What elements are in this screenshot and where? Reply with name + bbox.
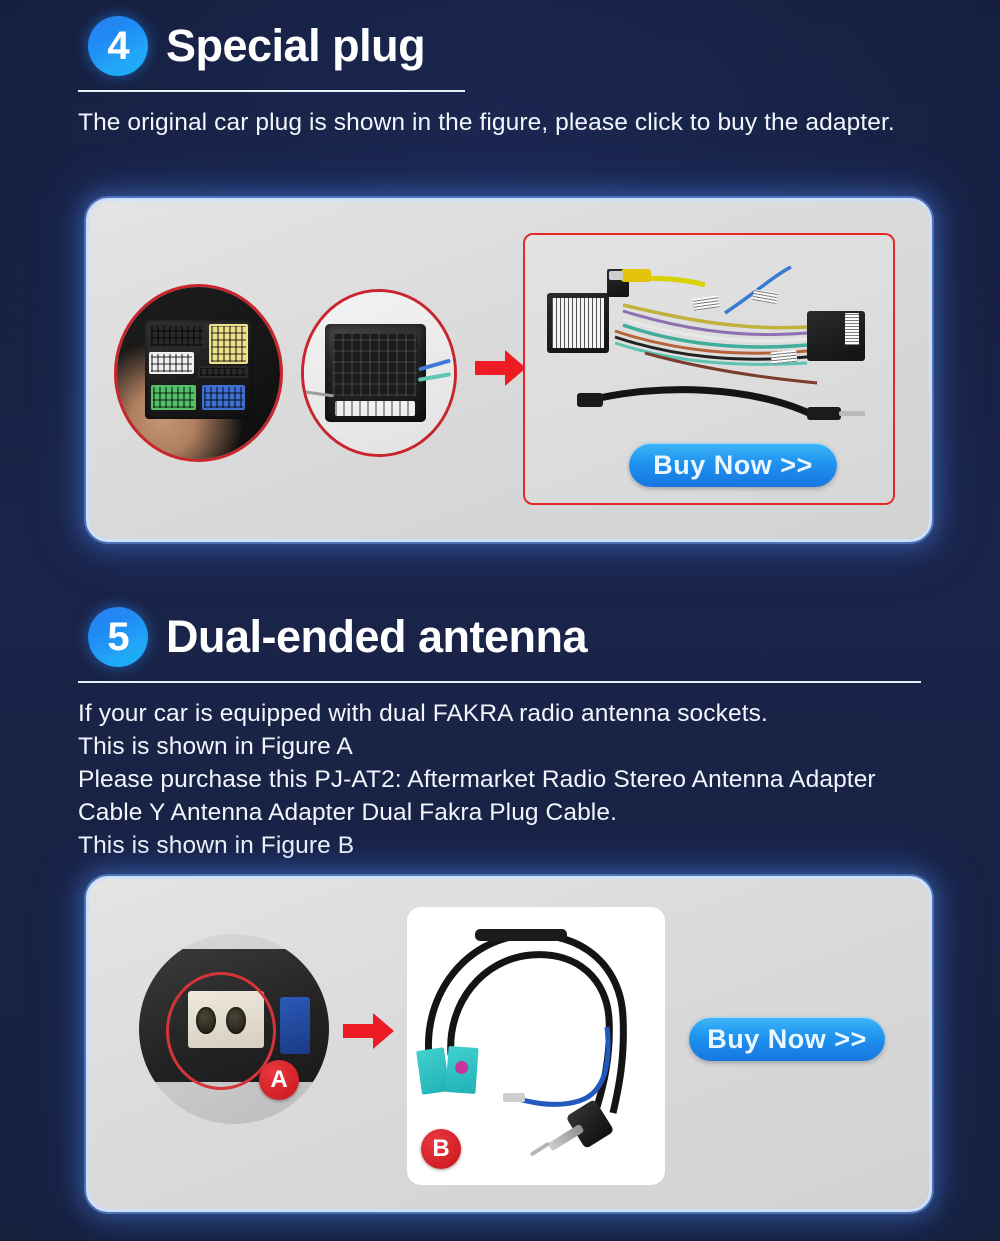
section-4-header: 4 Special plug — [0, 16, 1000, 76]
plug-white-strip — [335, 401, 415, 416]
step-number-badge-4: 4 — [88, 16, 148, 76]
figure-b-product-card: B — [407, 907, 665, 1185]
section-5-divider — [78, 681, 921, 683]
green-pin-block — [151, 385, 196, 411]
plug-pin-grid — [333, 334, 417, 396]
white-pin-block — [149, 352, 194, 374]
arrow-right-icon — [343, 1012, 395, 1050]
wire-label-tag — [845, 313, 859, 345]
figure-a-socket-photo: A — [139, 934, 329, 1124]
buy-now-label: Buy Now >> — [653, 450, 813, 481]
dual-antenna-figure-panel: A — [86, 876, 932, 1212]
special-plug-figure-panel: Buy Now >> — [86, 198, 932, 542]
section-5-title: Dual-ended antenna — [166, 611, 587, 663]
flow-arrow-icon — [475, 349, 527, 387]
buy-now-label: Buy Now >> — [707, 1024, 867, 1055]
connector-body — [145, 320, 253, 420]
arrow-right-icon — [475, 349, 527, 387]
figure-a-badge: A — [259, 1060, 299, 1100]
plug-shell — [325, 324, 426, 421]
hand-holding-connector-image — [117, 287, 280, 459]
adapter-product-frame: Buy Now >> — [523, 233, 895, 505]
figure-b-badge: B — [421, 1129, 461, 1169]
step-number-badge-5: 5 — [88, 607, 148, 667]
buy-now-button-special-plug[interactable]: Buy Now >> — [629, 443, 837, 487]
original-car-plug-photo — [114, 284, 283, 462]
figure-b-label: B — [432, 1135, 449, 1163]
product-detail-page: 4 Special plug The original car plug is … — [0, 0, 1000, 1241]
section-4-divider — [78, 90, 465, 92]
blue-pin-block — [202, 385, 245, 411]
plug-closeup-image — [304, 292, 454, 454]
section-5-body-text: If your car is equipped with dual FAKRA … — [78, 697, 928, 862]
section-5-header: 5 Dual-ended antenna — [0, 607, 1000, 667]
figure-a-label: A — [270, 1066, 287, 1094]
fakra-socket-image — [139, 934, 329, 1124]
yellow-pin-block — [209, 324, 248, 364]
section-special-plug: 4 Special plug The original car plug is … — [0, 16, 1000, 139]
fakra-connector-2 — [445, 1046, 478, 1094]
section-4-title: Special plug — [166, 20, 425, 72]
section-4-body-text: The original car plug is shown in the fi… — [78, 106, 928, 139]
buy-now-button-dual-antenna[interactable]: Buy Now >> — [689, 1017, 885, 1061]
blue-clip — [280, 997, 310, 1054]
flow-arrow-icon-2 — [343, 1012, 395, 1050]
step-number-5: 5 — [107, 617, 128, 657]
section-dual-ended-antenna: 5 Dual-ended antenna If your car is equi… — [0, 607, 1000, 862]
step-number-4: 4 — [107, 26, 128, 66]
bare-plug-photo — [301, 289, 457, 457]
